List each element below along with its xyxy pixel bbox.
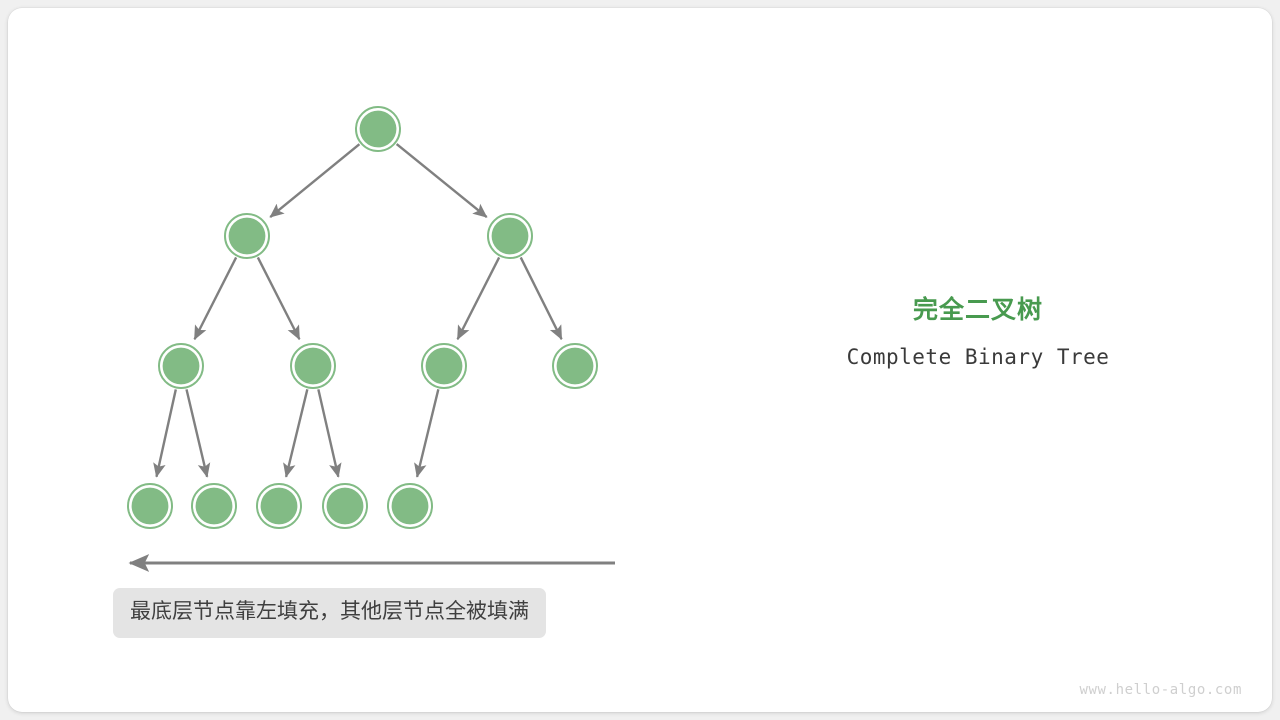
tree-node-fill — [196, 488, 233, 525]
tree-node-fill — [360, 111, 397, 148]
diagram-card: 完全二叉树 Complete Binary Tree 最底层节点靠左填充，其他层… — [8, 8, 1272, 712]
tree-node-fill — [295, 348, 332, 385]
tree-edge — [286, 389, 307, 477]
tree-node[interactable] — [257, 484, 301, 528]
tree-edge — [187, 389, 208, 476]
tree-edge — [156, 389, 175, 476]
tree-node[interactable] — [488, 214, 532, 258]
tree-node-fill — [492, 218, 529, 255]
tree-edge — [458, 257, 500, 339]
tree-edge — [521, 257, 562, 339]
tree-edge — [417, 389, 438, 477]
tree-node-fill — [132, 488, 169, 525]
diagram-subtitle: Complete Binary Tree — [768, 344, 1188, 370]
tree-node[interactable] — [323, 484, 367, 528]
tree-node-fill — [229, 218, 266, 255]
tree-node[interactable] — [356, 107, 400, 151]
tree-node-fill — [327, 488, 364, 525]
tree-node-fill — [163, 348, 200, 385]
tree-edge — [318, 389, 338, 476]
tree-edge — [270, 144, 359, 217]
tree-node[interactable] — [159, 344, 203, 388]
tree-edge — [258, 257, 300, 339]
tree-node[interactable] — [291, 344, 335, 388]
tree-node[interactable] — [128, 484, 172, 528]
tree-nodes — [128, 107, 597, 528]
tree-node[interactable] — [422, 344, 466, 388]
tree-node-fill — [557, 348, 594, 385]
tree-node-fill — [392, 488, 429, 525]
tree-node-fill — [261, 488, 298, 525]
page-background: 完全二叉树 Complete Binary Tree 最底层节点靠左填充，其他层… — [0, 0, 1280, 720]
tree-node-fill — [426, 348, 463, 385]
tree-edge — [397, 144, 487, 217]
tree-node[interactable] — [225, 214, 269, 258]
tree-edges — [156, 144, 561, 477]
tree-edge — [195, 257, 237, 339]
diagram-title: 完全二叉树 — [768, 293, 1188, 327]
watermark: www.hello-algo.com — [1079, 682, 1242, 698]
caption-box: 最底层节点靠左填充，其他层节点全被填满 — [113, 588, 546, 638]
tree-node[interactable] — [553, 344, 597, 388]
tree-node[interactable] — [388, 484, 432, 528]
diagram-label-block: 完全二叉树 Complete Binary Tree — [768, 293, 1188, 370]
tree-node[interactable] — [192, 484, 236, 528]
